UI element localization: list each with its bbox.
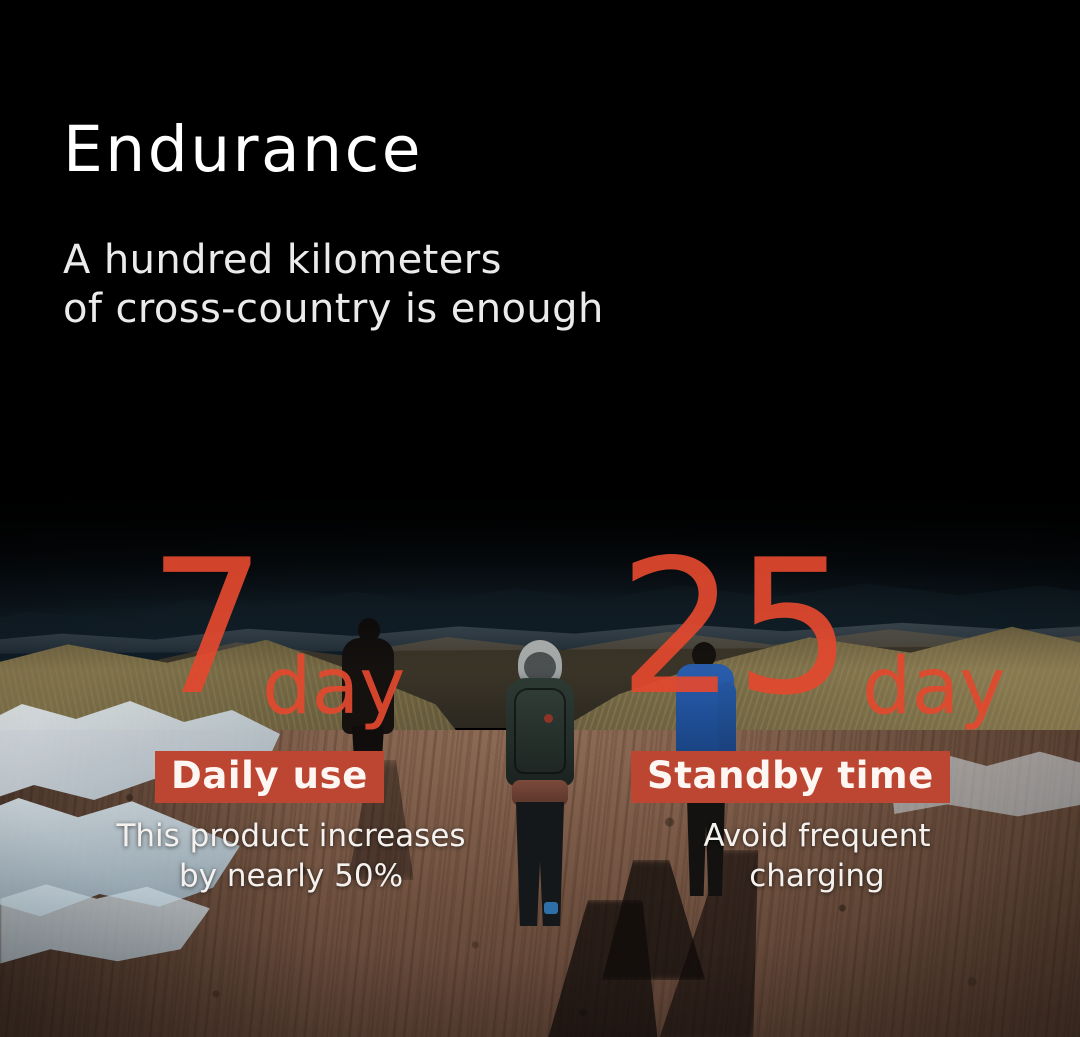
stat-caption-standby-time-line-2: charging (652, 857, 982, 897)
subheadline-line-2: of cross-country is enough (63, 285, 604, 334)
subheadline-line-1: A hundred kilometers (63, 236, 604, 285)
stat-caption-standby-time-line-1: Avoid frequent (652, 817, 982, 857)
subheadline: A hundred kilometers of cross-country is… (63, 236, 604, 334)
endurance-product-poster: Endurance A hundred kilometers of cross-… (0, 0, 1080, 1037)
stat-value-7: 7 (148, 548, 264, 708)
stat-caption-standby-time: Avoid frequent charging (652, 817, 982, 896)
stat-unit-7: day (262, 648, 405, 726)
stat-value-25: 25 (618, 548, 851, 708)
stat-caption-daily-use-line-1: This product increases (86, 817, 496, 857)
stat-caption-daily-use-line-2: by nearly 50% (86, 857, 496, 897)
stat-unit-25: day (862, 648, 1005, 726)
stat-caption-daily-use: This product increases by nearly 50% (86, 817, 496, 896)
status-badge-daily-use: Daily use (155, 751, 384, 803)
status-badge-standby-time: Standby time (631, 751, 950, 803)
page-title: Endurance (63, 118, 423, 181)
